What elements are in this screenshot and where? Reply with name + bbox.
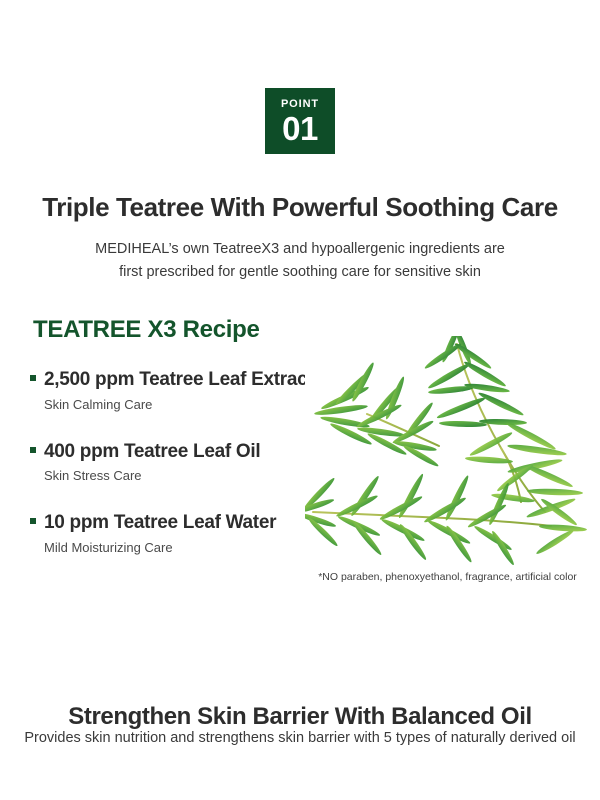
section2-subheading: Provides skin nutrition and strengthens … [0,727,600,750]
ingredient-disclaimer: *NO paraben, phenoxyethanol, fragrance, … [305,570,590,585]
ingredient-name: 400 ppm Teatree Leaf Oil [44,440,260,464]
ingredient-name: 10 ppm Teatree Leaf Water [44,511,276,535]
section1-heading: Triple Teatree With Powerful Soothing Ca… [0,192,600,223]
point-badge: POINT 01 [265,88,335,154]
point-badge-label: POINT [281,99,319,110]
section1-subheading-line2: first prescribed for gentle soothing car… [0,261,600,284]
point-badge-number: 01 [282,112,318,145]
point-badge-container: POINT 01 [0,88,600,154]
recipe-title: TEATREE X3 Recipe [33,316,260,345]
ingredient-name: 2,500 ppm Teatree Leaf Extract [44,368,313,392]
square-bullet-icon [30,375,36,381]
teatree-plant-image [305,336,590,571]
square-bullet-icon [30,518,36,524]
section1-subheading: MEDIHEAL’s own TeatreeX3 and hypoallerge… [0,238,600,284]
section1-subheading-line1: MEDIHEAL’s own TeatreeX3 and hypoallerge… [0,238,600,261]
square-bullet-icon [30,447,36,453]
